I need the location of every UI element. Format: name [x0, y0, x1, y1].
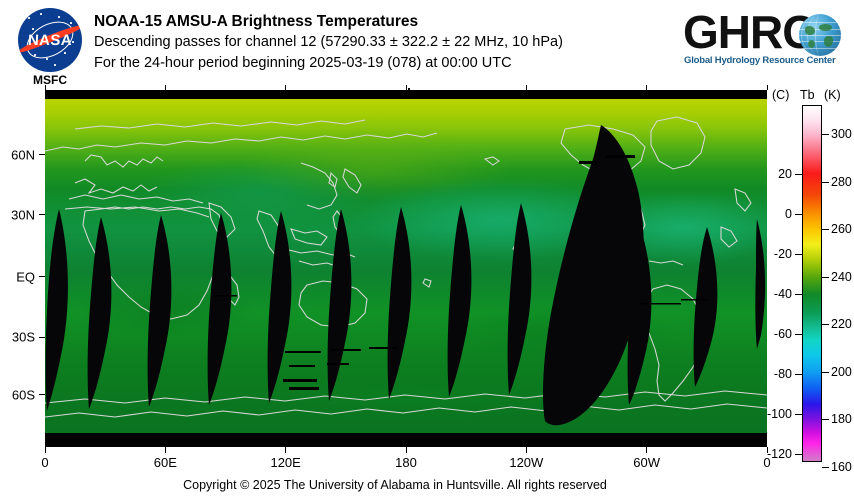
colorbar-c-label-0: 0 [785, 207, 792, 221]
y-label-30N: 30N [11, 207, 35, 222]
colorbar-k-label-200: 200 [831, 365, 852, 379]
nasa-logo: NASA MSFC [12, 8, 88, 88]
ghrc-logo: GHRC Global Hydrology Resource Center [683, 8, 843, 78]
page-title: NOAA-15 AMSU-A Brightness Temperatures [94, 11, 674, 32]
colorbar-k-tick-300 [822, 134, 829, 135]
colorbar-kelvin-header: (K) [824, 88, 841, 102]
colorbar-c-tick--120 [795, 454, 802, 455]
y-tick-EQ [39, 276, 45, 277]
x-tick-top-0 [45, 85, 46, 90]
x-label-180: 180 [395, 455, 417, 470]
colorbar-k-label-280: 280 [831, 175, 852, 189]
y-tick-30S [39, 337, 45, 338]
colorbar-variable-header: Tb [800, 88, 815, 102]
orbital-data-gap-swaths [45, 99, 767, 433]
x-label-60E: 60E [154, 455, 177, 470]
x-tick-0 [45, 447, 46, 453]
x-tick-top-60E [165, 85, 166, 90]
map-data-field [45, 99, 767, 433]
colorbar-c-tick-0 [795, 214, 802, 215]
colorbar-k-tick-160 [822, 467, 829, 468]
colorbar-c-label--20: -20 [774, 247, 792, 261]
x-tick-120E [285, 447, 286, 453]
nasa-meatball-icon: NASA [18, 8, 82, 72]
ghrc-tagline: Global Hydrology Resource Center [684, 55, 835, 66]
brightness-temperature-map-page: NASA MSFC NOAA-15 AMSU-A Brightness Temp… [0, 0, 854, 502]
x-tick-top-60W [646, 85, 647, 90]
colorbar-c-label--80: -80 [774, 367, 792, 381]
colorbar-k-tick-180 [822, 419, 829, 420]
colorbar-k-label-260: 260 [831, 222, 852, 236]
y-tick-60N [39, 154, 45, 155]
colorbar-c-label--60: -60 [774, 327, 792, 341]
x-tick-top-180 [406, 85, 407, 90]
nasa-wordmark: NASA [18, 32, 82, 49]
y-label-30S: 30S [12, 330, 35, 345]
colorbar-celsius-header: (C) [772, 88, 789, 102]
y-tick-60S [39, 394, 45, 395]
x-tick-top-0 [767, 85, 768, 90]
x-label-0: 0 [41, 455, 48, 470]
y-label-60N: 60N [11, 147, 35, 162]
colorbar-k-label-300: 300 [831, 127, 852, 141]
colorbar-c-tick--100 [795, 414, 802, 415]
map-nodata-band-top [45, 90, 767, 99]
x-tick-60E [165, 447, 166, 453]
colorbar-k-tick-220 [822, 324, 829, 325]
globe-icon [799, 14, 841, 56]
colorbar-k-tick-200 [822, 372, 829, 373]
colorbar-k-label-240: 240 [831, 270, 852, 284]
y-label-60S: 60S [12, 387, 35, 402]
colorbar-k-tick-240 [822, 277, 829, 278]
x-tick-60W [646, 447, 647, 453]
colorbar-k-tick-280 [822, 182, 829, 183]
map-nodata-band-bottom [45, 433, 767, 447]
x-label-120E: 120E [270, 455, 300, 470]
x-tick-top-120W [526, 85, 527, 90]
colorbar-c-label--100: -100 [767, 407, 792, 421]
x-tick-top-120E [285, 85, 286, 90]
colorbar-k-tick-260 [822, 229, 829, 230]
colorbar-gradient[interactable] [802, 105, 822, 462]
colorbar-c-label--40: -40 [774, 287, 792, 301]
x-label-60W: 60W [633, 455, 660, 470]
period-subtitle: For the 24-hour period beginning 2025-03… [94, 53, 674, 74]
colorbar-c-tick--60 [795, 334, 802, 335]
colorbar-c-tick--40 [795, 294, 802, 295]
node-marker-icon [408, 88, 434, 98]
colorbar-c-label-20: 20 [778, 167, 792, 181]
colorbar-k-label-180: 180 [831, 412, 852, 426]
colorbar-c-tick--80 [795, 374, 802, 375]
copyright-notice: Copyright © 2025 The University of Alaba… [0, 478, 790, 492]
colorbar-k-label-160: 160 [831, 460, 852, 474]
nasa-center-label: MSFC [12, 73, 88, 87]
x-tick-180 [406, 447, 407, 453]
x-label-120W: 120W [509, 455, 543, 470]
title-block: NOAA-15 AMSU-A Brightness Temperatures D… [94, 11, 674, 74]
ghrc-wordmark: GHRC [683, 8, 814, 56]
colorbar-k-label-220: 220 [831, 317, 852, 331]
brightness-temperature-map[interactable] [45, 90, 767, 447]
colorbar-c-tick-20 [795, 174, 802, 175]
colorbar-c-tick--20 [795, 254, 802, 255]
x-tick-120W [526, 447, 527, 453]
channel-subtitle: Descending passes for channel 12 (57290.… [94, 32, 674, 53]
colorbar-c-label--120: -120 [767, 447, 792, 461]
y-tick-30N [39, 214, 45, 215]
y-label-EQ: EQ [16, 269, 35, 284]
